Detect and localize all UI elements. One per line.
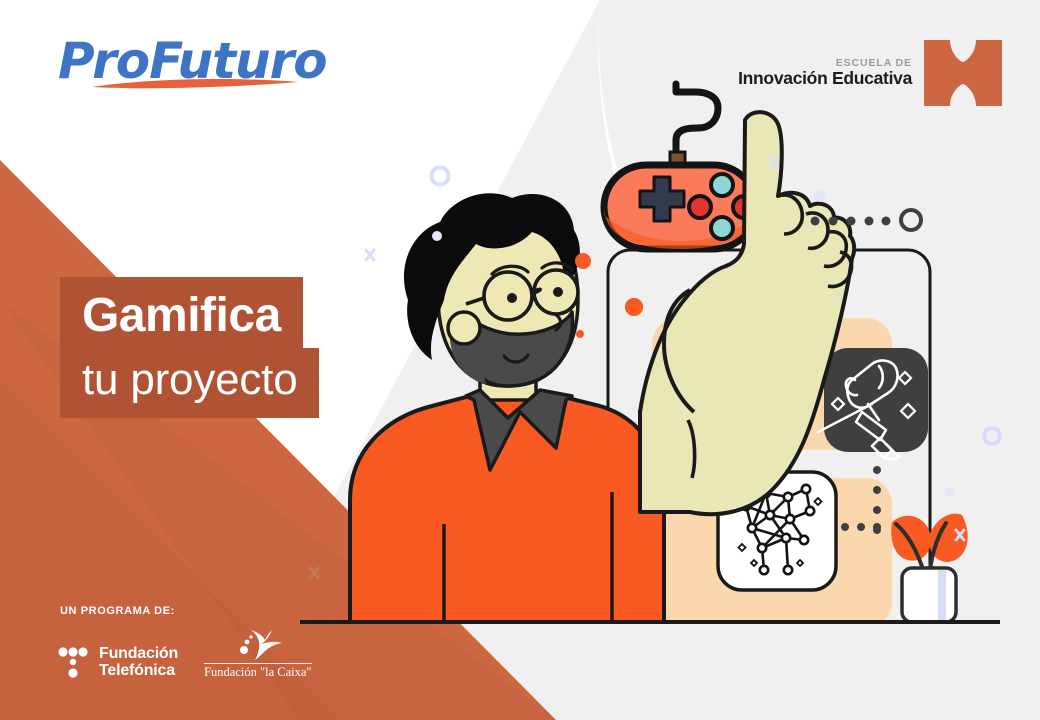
brand-name: Innovación Educativa	[738, 69, 912, 87]
sponsor-tf-line1: Fundación	[99, 646, 178, 663]
sponsor-tf-line2: Telefónica	[99, 663, 178, 680]
program-label: UN PROGRAMA DE:	[60, 605, 175, 617]
escuela-innovacion-brand: ESCUELA DE Innovación Educativa	[738, 40, 1002, 106]
plant-pot-highlight	[938, 570, 946, 620]
open-circle	[901, 210, 921, 230]
x-bowtie-logo	[924, 40, 1002, 106]
dot-row-inner	[841, 523, 881, 531]
lavender-ring	[432, 168, 449, 185]
sponsor-fundacion-telefonica: Fundación Telefónica	[58, 646, 178, 680]
title-line-2: tu proyecto	[60, 348, 319, 418]
cross-mark-left	[310, 568, 318, 578]
person-ear	[448, 312, 480, 344]
sponsor-fundacion-la-caixa: Fundación "la Caixa"	[204, 628, 311, 680]
telefonica-dots-logo	[58, 646, 90, 680]
orange-dot-3	[576, 330, 584, 338]
title-line-1: Gamifica	[60, 277, 303, 349]
profuturo-logo: ProFuturo	[58, 36, 327, 92]
trophy-card	[818, 348, 928, 459]
sponsor-caixa-text: Fundación "la Caixa"	[204, 663, 311, 680]
sponsor-logos: Fundación Telefónica Fundación "la Caixa…	[58, 628, 312, 680]
game-controller	[604, 165, 756, 249]
caixa-star-logo	[228, 628, 288, 662]
plant-pot	[902, 568, 956, 622]
controller-cable	[676, 84, 718, 158]
orange-dot-1	[575, 253, 591, 269]
lavender-dot-2	[814, 190, 826, 202]
button-bottom-teal	[711, 217, 733, 239]
orange-dot-2	[625, 298, 643, 316]
lavender-dot-3	[945, 487, 955, 497]
poster-canvas: ProFuturo ESCUELA DE Innovación Educativ…	[0, 0, 1040, 720]
lavender-dot-1	[432, 231, 442, 241]
eye-left	[507, 293, 517, 303]
button-top-teal	[711, 174, 733, 196]
page-title: Gamifica tu proyecto	[60, 277, 319, 418]
lavender-ring-2	[984, 428, 1000, 444]
eye-right	[553, 287, 563, 297]
button-left-red	[689, 196, 711, 218]
profuturo-wordmark: ProFuturo	[58, 36, 327, 86]
